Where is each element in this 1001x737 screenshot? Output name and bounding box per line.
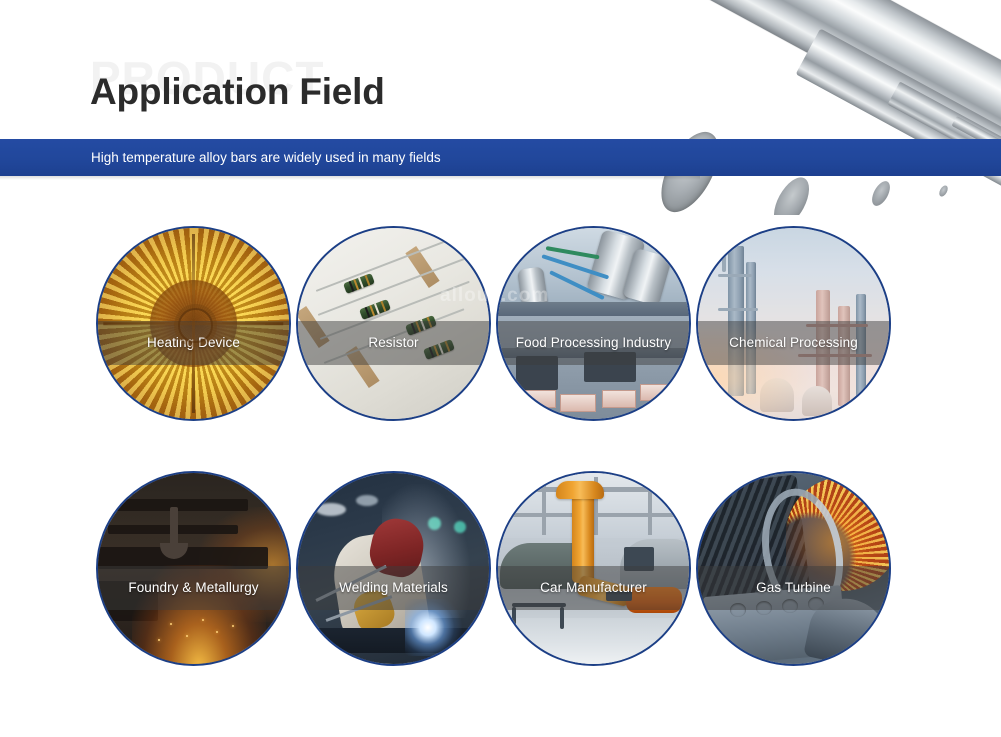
product-carton-1 <box>524 390 556 408</box>
label-band: Resistor <box>298 321 489 365</box>
application-card-car-manufacturer[interactable]: Car Manufacturer <box>496 471 691 666</box>
application-label: Gas Turbine <box>756 580 831 595</box>
application-card-gas-turbine[interactable]: Gas Turbine <box>696 471 891 666</box>
background-light-1 <box>316 503 346 516</box>
application-row-2: Foundry & Metallurgy <box>0 471 1001 666</box>
background-light-2 <box>356 495 378 506</box>
application-label: Welding Materials <box>339 580 448 595</box>
application-card-resistor[interactable]: Resistor <box>296 226 491 421</box>
factory-floor <box>498 618 689 664</box>
circle-frame: Car Manufacturer <box>496 471 691 666</box>
label-band: Car Manufacturer <box>498 566 689 610</box>
application-field-slide: PRODUCT Application Field High temperatu… <box>0 0 1001 737</box>
resistor-body-1 <box>343 273 375 294</box>
label-band: Gas Turbine <box>698 566 889 610</box>
application-label: Resistor <box>368 335 418 350</box>
label-band: Welding Materials <box>298 566 489 610</box>
heating-device-image <box>98 228 289 419</box>
heater-hub <box>178 308 213 343</box>
pipe-cross-2 <box>718 308 758 311</box>
application-label: Foundry & Metallurgy <box>128 580 258 595</box>
label-band: Food Processing Industry <box>498 321 689 365</box>
application-card-heating-device[interactable]: Heating Device <box>96 226 291 421</box>
label-band: Foundry & Metallurgy <box>98 566 289 610</box>
product-carton-2 <box>560 394 596 412</box>
application-card-food-processing-industry[interactable]: Food Processing Industry <box>496 226 691 421</box>
application-card-welding-materials[interactable]: Welding Materials <box>296 471 491 666</box>
subtitle-banner-text: High temperature alloy bars are widely u… <box>91 139 441 176</box>
floor-fixture-2 <box>512 607 516 629</box>
circle-frame: Food Processing Industry <box>496 226 691 421</box>
application-label: Chemical Processing <box>729 335 858 350</box>
robot-arm-upper <box>556 481 604 499</box>
circle-frame: Resistor <box>296 226 491 421</box>
circle-frame: Welding Materials <box>296 471 491 666</box>
application-label: Food Processing Industry <box>516 335 671 350</box>
application-card-foundry-metallurgy[interactable]: Foundry & Metallurgy <box>96 471 291 666</box>
alloy-bar-medium-end-face <box>767 172 816 215</box>
page-title: Application Field <box>90 72 385 113</box>
circle-frame: Chemical Processing <box>696 226 891 421</box>
bench-tape-2 <box>405 246 439 288</box>
alloy-bar-small-end-face <box>868 178 893 208</box>
alloy-bar-thin-end-face <box>938 184 950 198</box>
product-carton-3 <box>602 390 636 408</box>
metal-alloy-bars-image <box>656 0 1001 215</box>
circle-frame: Gas Turbine <box>696 471 891 666</box>
banner-drop-shadow <box>0 176 700 180</box>
ceiling-post-1 <box>542 477 546 535</box>
circle-frame: Foundry & Metallurgy <box>96 471 291 666</box>
floor-fixture-3 <box>560 607 564 629</box>
application-card-chemical-processing[interactable]: Chemical Processing <box>696 226 891 421</box>
conveyor-rail-1 <box>498 302 689 316</box>
circle-frame: Heating Device <box>96 226 291 421</box>
application-circles-grid: Heating Device <box>0 226 1001 686</box>
resistor-lead-2 <box>318 257 468 316</box>
ceiling-post-3 <box>648 477 652 535</box>
product-carton-4 <box>640 384 670 401</box>
application-row-1: Heating Device <box>0 226 1001 421</box>
subtitle-banner: High temperature alloy bars are widely u… <box>0 139 1001 176</box>
label-band: Chemical Processing <box>698 321 889 365</box>
application-label: Car Manufacturer <box>540 580 647 595</box>
flare-stack <box>722 238 726 272</box>
pipe-cross-1 <box>718 274 752 277</box>
header-section: PRODUCT Application Field <box>0 0 1001 215</box>
